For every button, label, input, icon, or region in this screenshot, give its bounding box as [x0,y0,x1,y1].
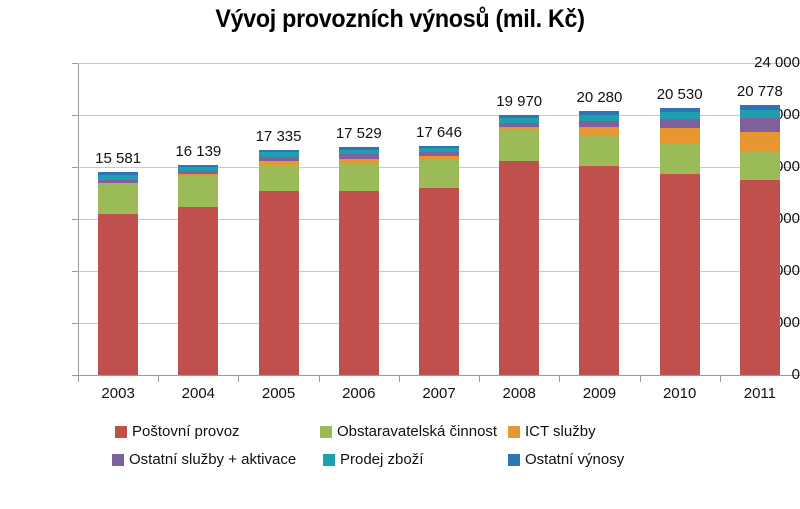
x-axis-tick [319,376,320,382]
legend-swatch-icon [508,426,520,438]
bar-segment[interactable] [579,127,619,135]
bar-segment[interactable] [740,118,780,132]
x-axis-label: 2006 [319,386,399,402]
legend-label: ICT služby [525,424,596,440]
bar-segment[interactable] [740,180,780,375]
x-axis-tick [158,376,159,382]
legend-swatch-icon [112,454,124,466]
y-axis-tick [72,167,78,168]
legend-label: Poštovní provoz [132,424,240,440]
bar-segment[interactable] [178,207,218,375]
legend-item[interactable]: Ostatní výnosy [508,452,624,468]
bar-segment[interactable] [579,111,619,115]
bar-segment[interactable] [579,135,619,166]
bar-segment[interactable] [259,157,299,161]
bar-segment[interactable] [499,130,539,161]
y-axis-tick [72,219,78,220]
bar-segment[interactable] [339,163,379,191]
bar-segment[interactable] [98,180,138,183]
bar-segment[interactable] [499,127,539,130]
x-axis-tick [479,376,480,382]
bar-segment[interactable] [579,115,619,121]
bar-segment[interactable] [660,174,700,375]
bar-segment[interactable] [339,154,379,159]
bar-column[interactable] [579,111,619,375]
bar-segment[interactable] [178,167,218,171]
x-axis-tick [238,376,239,382]
bar-segment[interactable] [740,105,780,110]
legend-item[interactable]: Obstaravatelská činnost [320,424,497,440]
x-axis-tick [640,376,641,382]
bar-column[interactable] [259,150,299,375]
bar-segment[interactable] [740,110,780,118]
bar-segment[interactable] [339,150,379,154]
bar-column[interactable] [339,147,379,375]
x-axis-label: 2004 [158,386,238,402]
chart-title: Vývoj provozních výnosů (mil. Kč) [28,5,772,34]
x-axis-tick [399,376,400,382]
y-axis-tick [72,115,78,116]
bar-segment[interactable] [419,188,459,375]
bar-segment[interactable] [740,132,780,151]
bar-segment[interactable] [339,191,379,375]
legend-label: Prodej zboží [340,452,423,468]
x-axis-label: 2007 [399,386,479,402]
bar-segment[interactable] [259,161,299,165]
bar-segment[interactable] [259,165,299,191]
bar-segment[interactable] [499,118,539,123]
bar-segment[interactable] [98,175,138,180]
bar-segment[interactable] [339,147,379,150]
x-axis-tick [720,376,721,382]
bar-segment[interactable] [98,183,138,214]
legend-swatch-icon [320,426,332,438]
bar-segment[interactable] [178,165,218,167]
gridline [78,63,800,64]
bar-segment[interactable] [339,159,379,163]
legend-swatch-icon [115,426,127,438]
bar-segment[interactable] [660,143,700,174]
bar-segment[interactable] [98,172,138,175]
x-axis-tick [559,376,560,382]
x-axis-label: 2008 [479,386,559,402]
chart-container: Vývoj provozních výnosů (mil. Kč) 24 000… [0,0,800,509]
x-axis-label: 2003 [78,386,158,402]
legend-item[interactable]: ICT služby [508,424,596,440]
bar-value-label: 16 139 [138,144,258,159]
bar-segment[interactable] [579,121,619,127]
x-axis-line [78,375,800,376]
bar-segment[interactable] [740,151,780,180]
bar-segment[interactable] [499,115,539,118]
bar-value-label: 20 778 [700,84,800,99]
y-axis-tick [72,323,78,324]
bar-segment[interactable] [419,148,459,152]
legend-label: Ostatní výnosy [525,452,624,468]
bar-segment[interactable] [660,119,700,128]
legend-swatch-icon [508,454,520,466]
x-axis-label: 2005 [239,386,319,402]
bar-column[interactable] [98,172,138,375]
bar-value-label: 17 646 [379,125,499,140]
x-axis-tick [78,376,79,382]
bar-column[interactable] [740,105,780,375]
bar-segment[interactable] [419,146,459,148]
bar-segment[interactable] [419,156,459,160]
bar-segment[interactable] [660,112,700,119]
x-axis-label: 2010 [640,386,720,402]
bar-segment[interactable] [259,152,299,157]
y-axis-tick [72,271,78,272]
chart-legend: Poštovní provozObstaravatelská činnostIC… [0,420,800,482]
bar-segment[interactable] [259,191,299,375]
legend-item[interactable]: Prodej zboží [323,452,423,468]
bar-segment[interactable] [178,176,218,207]
bar-segment[interactable] [499,123,539,127]
bar-segment[interactable] [660,128,700,143]
bar-segment[interactable] [259,150,299,153]
legend-label: Ostatní služby + aktivace [129,452,296,468]
bar-segment[interactable] [660,108,700,112]
bar-segment[interactable] [98,214,138,375]
legend-item[interactable]: Ostatní služby + aktivace [112,452,296,468]
bar-column[interactable] [660,108,700,375]
bar-segment[interactable] [419,160,459,188]
y-axis-label: 24 000 [732,55,800,70]
bar-column[interactable] [499,115,539,375]
legend-item[interactable]: Poštovní provoz [115,424,240,440]
bar-column[interactable] [178,165,218,375]
y-axis-tick [72,63,78,64]
bar-segment[interactable] [419,152,459,156]
bar-segment[interactable] [499,161,539,375]
bar-segment[interactable] [178,171,218,174]
legend-swatch-icon [323,454,335,466]
bar-column[interactable] [419,146,459,375]
bar-segment[interactable] [579,166,619,375]
x-axis-label: 2011 [720,386,800,402]
x-axis-label: 2009 [559,386,639,402]
legend-label: Obstaravatelská činnost [337,424,497,440]
bar-segment[interactable] [178,174,218,176]
